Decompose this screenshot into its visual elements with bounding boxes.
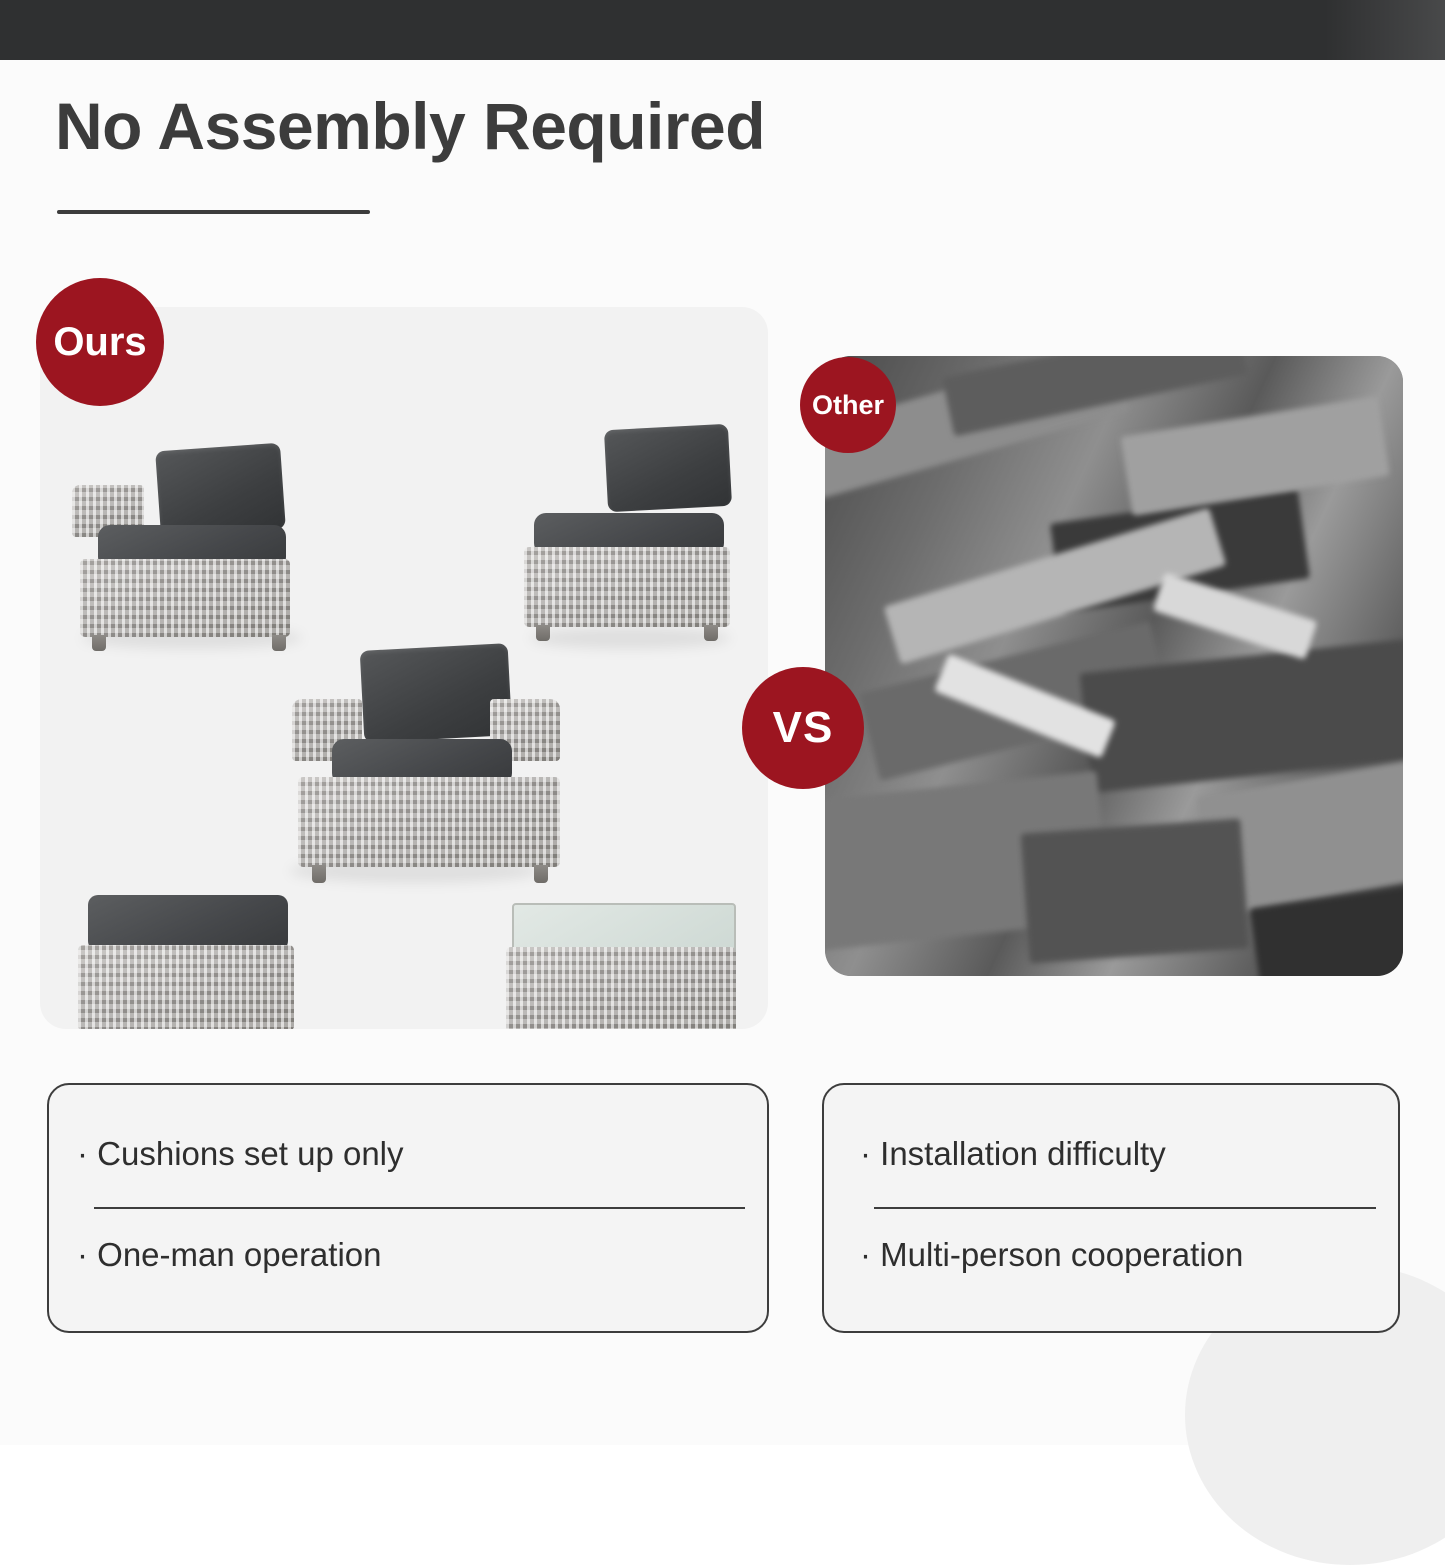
divider [94,1207,745,1209]
title-underline [57,210,370,214]
badge-ours: Ours [36,278,164,406]
other-feature-item-2: · Multi-person cooperation [860,1236,1243,1274]
ours-feature-item-1: · Cushions set up only [77,1135,404,1173]
disassembled-parts-photo [825,356,1403,976]
top-bar-gradient [1325,0,1445,60]
ours-image-panel [40,307,768,1029]
page-title: No Assembly Required [55,88,765,164]
other-feature-box: · Installation difficulty · Multi-person… [822,1083,1400,1333]
other-feature-item-1: · Installation difficulty [860,1135,1166,1173]
divider [874,1207,1376,1209]
other-image-panel [825,356,1403,976]
ours-feature-item-2: · One-man operation [77,1236,382,1274]
badge-vs: VS [742,667,864,789]
page-canvas: No Assembly Required [0,60,1445,1445]
ours-feature-box: · Cushions set up only · One-man operati… [47,1083,769,1333]
shadow [530,627,730,649]
badge-other: Other [800,357,896,453]
top-bar [0,0,1445,60]
